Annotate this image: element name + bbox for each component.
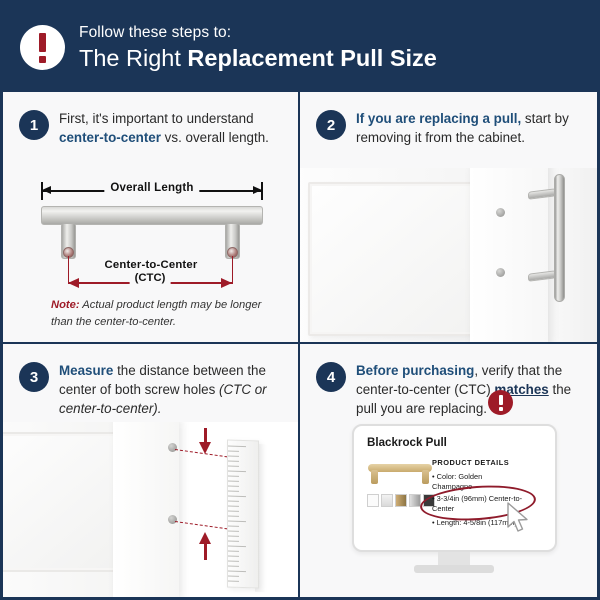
ctc-guide-right — [232, 256, 233, 284]
title-light: The Right — [79, 45, 187, 71]
thumbnail-1[interactable] — [367, 494, 379, 507]
header-text-block: Follow these steps to: The Right Replace… — [79, 24, 437, 71]
thumbnail-2[interactable] — [381, 494, 393, 507]
monitor-neck — [438, 552, 470, 565]
screw-hole-upper — [496, 208, 505, 217]
note-text: Actual product length may be longer than… — [51, 299, 261, 328]
page-title: The Right Replacement Pull Size — [79, 45, 437, 71]
cabinet-door-photo — [300, 168, 597, 344]
ruler — [227, 439, 259, 588]
screw-hole-upper-3 — [168, 443, 177, 452]
step-panel-3: 3 Measure the distance between the cente… — [3, 344, 300, 597]
product-page-monitor: Blackrock Pull PRODUCT DETAILS • Color: … — [352, 424, 557, 576]
pull-measurement-diagram: Overall Length Center-to-Center (CTC) — [3, 178, 300, 296]
thumbnail-3[interactable] — [395, 494, 407, 507]
step-number-2: 2 — [316, 110, 346, 140]
step-3-header: 3 Measure the distance between the cente… — [3, 344, 298, 418]
step-3-bold: Measure — [59, 363, 113, 378]
step-panel-1: 1 First, it's important to understand ce… — [3, 92, 300, 344]
alert-exclamation-icon — [488, 390, 513, 415]
product-image — [368, 460, 432, 486]
product-details-heading: PRODUCT DETAILS — [432, 458, 509, 467]
ctc-label: Center-to-Center — [101, 258, 201, 272]
step-1-note: Note: Actual product length may be longe… — [51, 297, 265, 331]
overall-length-dimension: Overall Length — [41, 185, 263, 197]
ruler-measurement-photo — [3, 422, 300, 597]
steps-grid: 1 First, it's important to understand ce… — [3, 92, 597, 597]
header-banner: Follow these steps to: The Right Replace… — [3, 3, 597, 92]
monitor-screen: Blackrock Pull PRODUCT DETAILS • Color: … — [352, 424, 557, 552]
cabinet-inset-panel — [308, 182, 488, 336]
step-number-4: 4 — [316, 362, 346, 392]
screw-hole-lower-3 — [168, 515, 177, 524]
step-panel-4: 4 Before purchasing, verify that the cen… — [300, 344, 597, 597]
infographic-root: Follow these steps to: The Right Replace… — [0, 0, 600, 600]
exclamation-icon — [20, 25, 65, 70]
header-kicker: Follow these steps to: — [79, 24, 437, 45]
step-4-text: Before purchasing, verify that the cente… — [356, 361, 583, 418]
step-4-bold: Before purchasing — [356, 363, 474, 378]
overall-length-label: Overall Length — [104, 182, 199, 194]
step-1-lead: First, it's important to understand — [59, 111, 254, 126]
step-1-tail: vs. overall length. — [161, 130, 269, 145]
ctc-abbrev-label: (CTC) — [130, 272, 171, 284]
note-label: Note: — [51, 299, 80, 311]
ctc-dimension: (CTC) — [68, 278, 232, 288]
product-title: Blackrock Pull — [367, 436, 447, 449]
screw-hole-lower — [496, 268, 505, 277]
step-number-3: 3 — [19, 362, 49, 392]
step-2-bold: If you are replacing a pull, — [356, 111, 521, 126]
step-2-header: 2 If you are replacing a pull, start by … — [300, 92, 597, 147]
step-4-header: 4 Before purchasing, verify that the cen… — [300, 344, 597, 418]
title-bold: Replacement Pull Size — [187, 45, 436, 71]
step-1-bold: center-to-center — [59, 130, 161, 145]
step-number-1: 1 — [19, 110, 49, 140]
step-3-text: Measure the distance between the center … — [59, 361, 284, 418]
step-panel-2: 2 If you are replacing a pull, start by … — [300, 92, 597, 344]
bar-pull-handle — [554, 174, 565, 302]
step-1-header: 1 First, it's important to understand ce… — [3, 92, 298, 147]
step-2-text: If you are replacing a pull, start by re… — [356, 109, 583, 147]
step-1-text: First, it's important to understand cent… — [59, 109, 284, 147]
monitor-base — [414, 565, 494, 573]
